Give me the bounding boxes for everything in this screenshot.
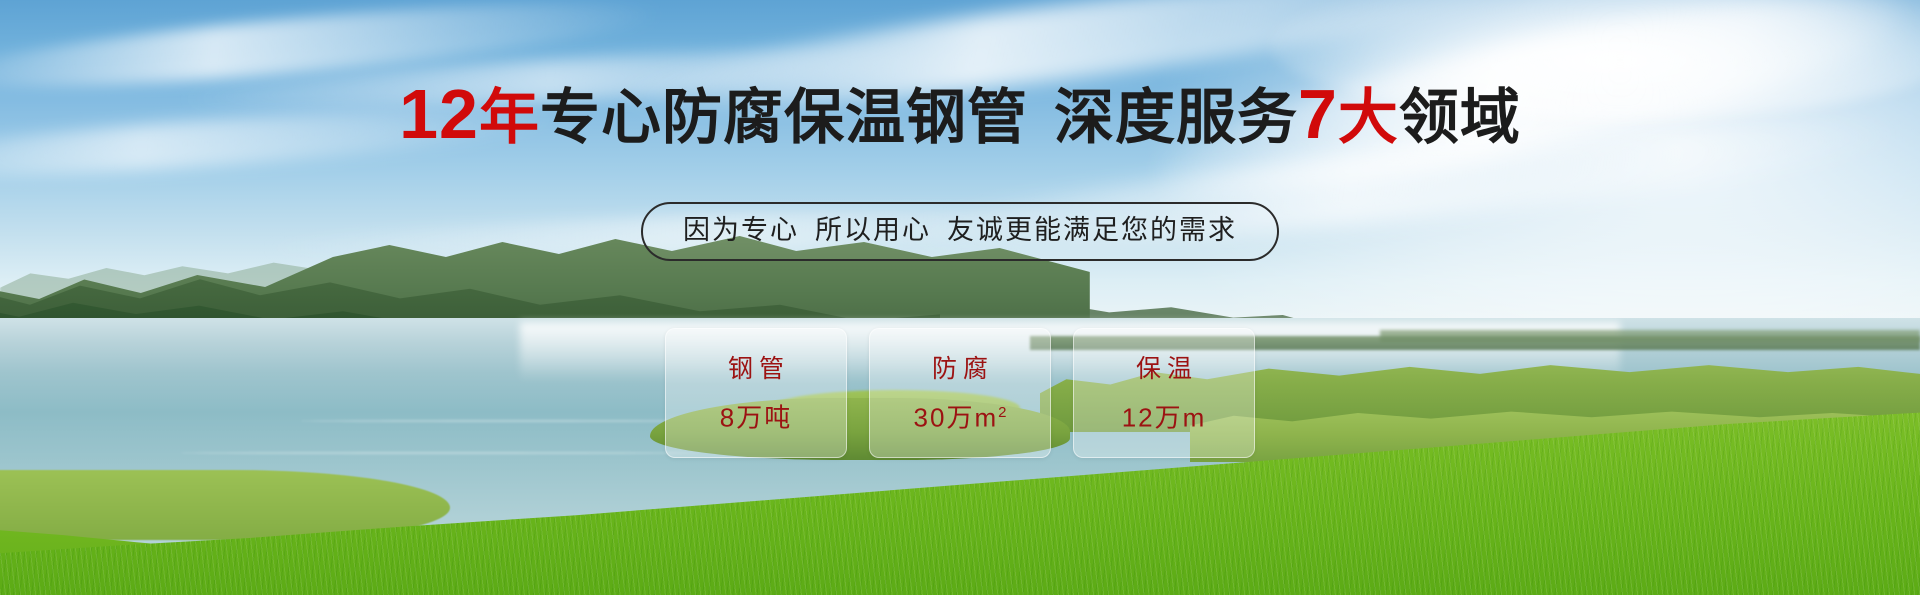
stat-card-value: 30万m2 [914, 398, 1007, 433]
headline-years-number: 12 [399, 75, 479, 153]
stat-card-title: 防腐 [926, 354, 994, 398]
stat-card-anticorrosion: 防腐 30万m2 [869, 328, 1051, 458]
stat-card-value-text: 30万m [914, 402, 999, 432]
stat-card-value-text: 12万m [1122, 402, 1207, 432]
stat-card-insulation: 保温 12万m [1073, 328, 1255, 458]
headline-fields-text: 领域 [1399, 84, 1521, 151]
stat-card-value-sup: 2 [998, 404, 1006, 421]
stat-card-group: 钢管 8万吨 防腐 30万m2 保温 12万m [665, 328, 1255, 458]
promo-banner: 12年专心防腐保温钢管深度服务7大领域 因为专心所以用心友诚更能满足您的需求 钢… [0, 0, 1920, 595]
headline-fields-unit: 大 [1338, 84, 1399, 151]
stat-card-title: 保温 [1130, 354, 1198, 398]
stat-card-steel-pipe: 钢管 8万吨 [665, 328, 847, 458]
subtitle-part-1: 因为专心 [683, 215, 799, 245]
stat-card-title: 钢管 [722, 354, 790, 398]
subtitle-part-3: 友诚更能满足您的需求 [947, 215, 1237, 245]
headline-fields-number: 7 [1298, 75, 1338, 153]
stat-card-value: 8万吨 [720, 398, 792, 433]
headline-service-text: 深度服务 [1054, 84, 1298, 151]
subtitle-part-2: 所以用心 [815, 215, 931, 245]
stat-card-value-text: 8万吨 [720, 402, 792, 432]
headline-years-unit: 年 [479, 84, 540, 151]
banner-subtitle-pill: 因为专心所以用心友诚更能满足您的需求 [641, 202, 1279, 261]
stat-card-value: 12万m [1122, 398, 1207, 433]
banner-headline: 12年专心防腐保温钢管深度服务7大领域 [0, 80, 1920, 152]
banner-content: 12年专心防腐保温钢管深度服务7大领域 因为专心所以用心友诚更能满足您的需求 钢… [0, 0, 1920, 595]
headline-main-text: 专心防腐保温钢管 [540, 84, 1028, 151]
